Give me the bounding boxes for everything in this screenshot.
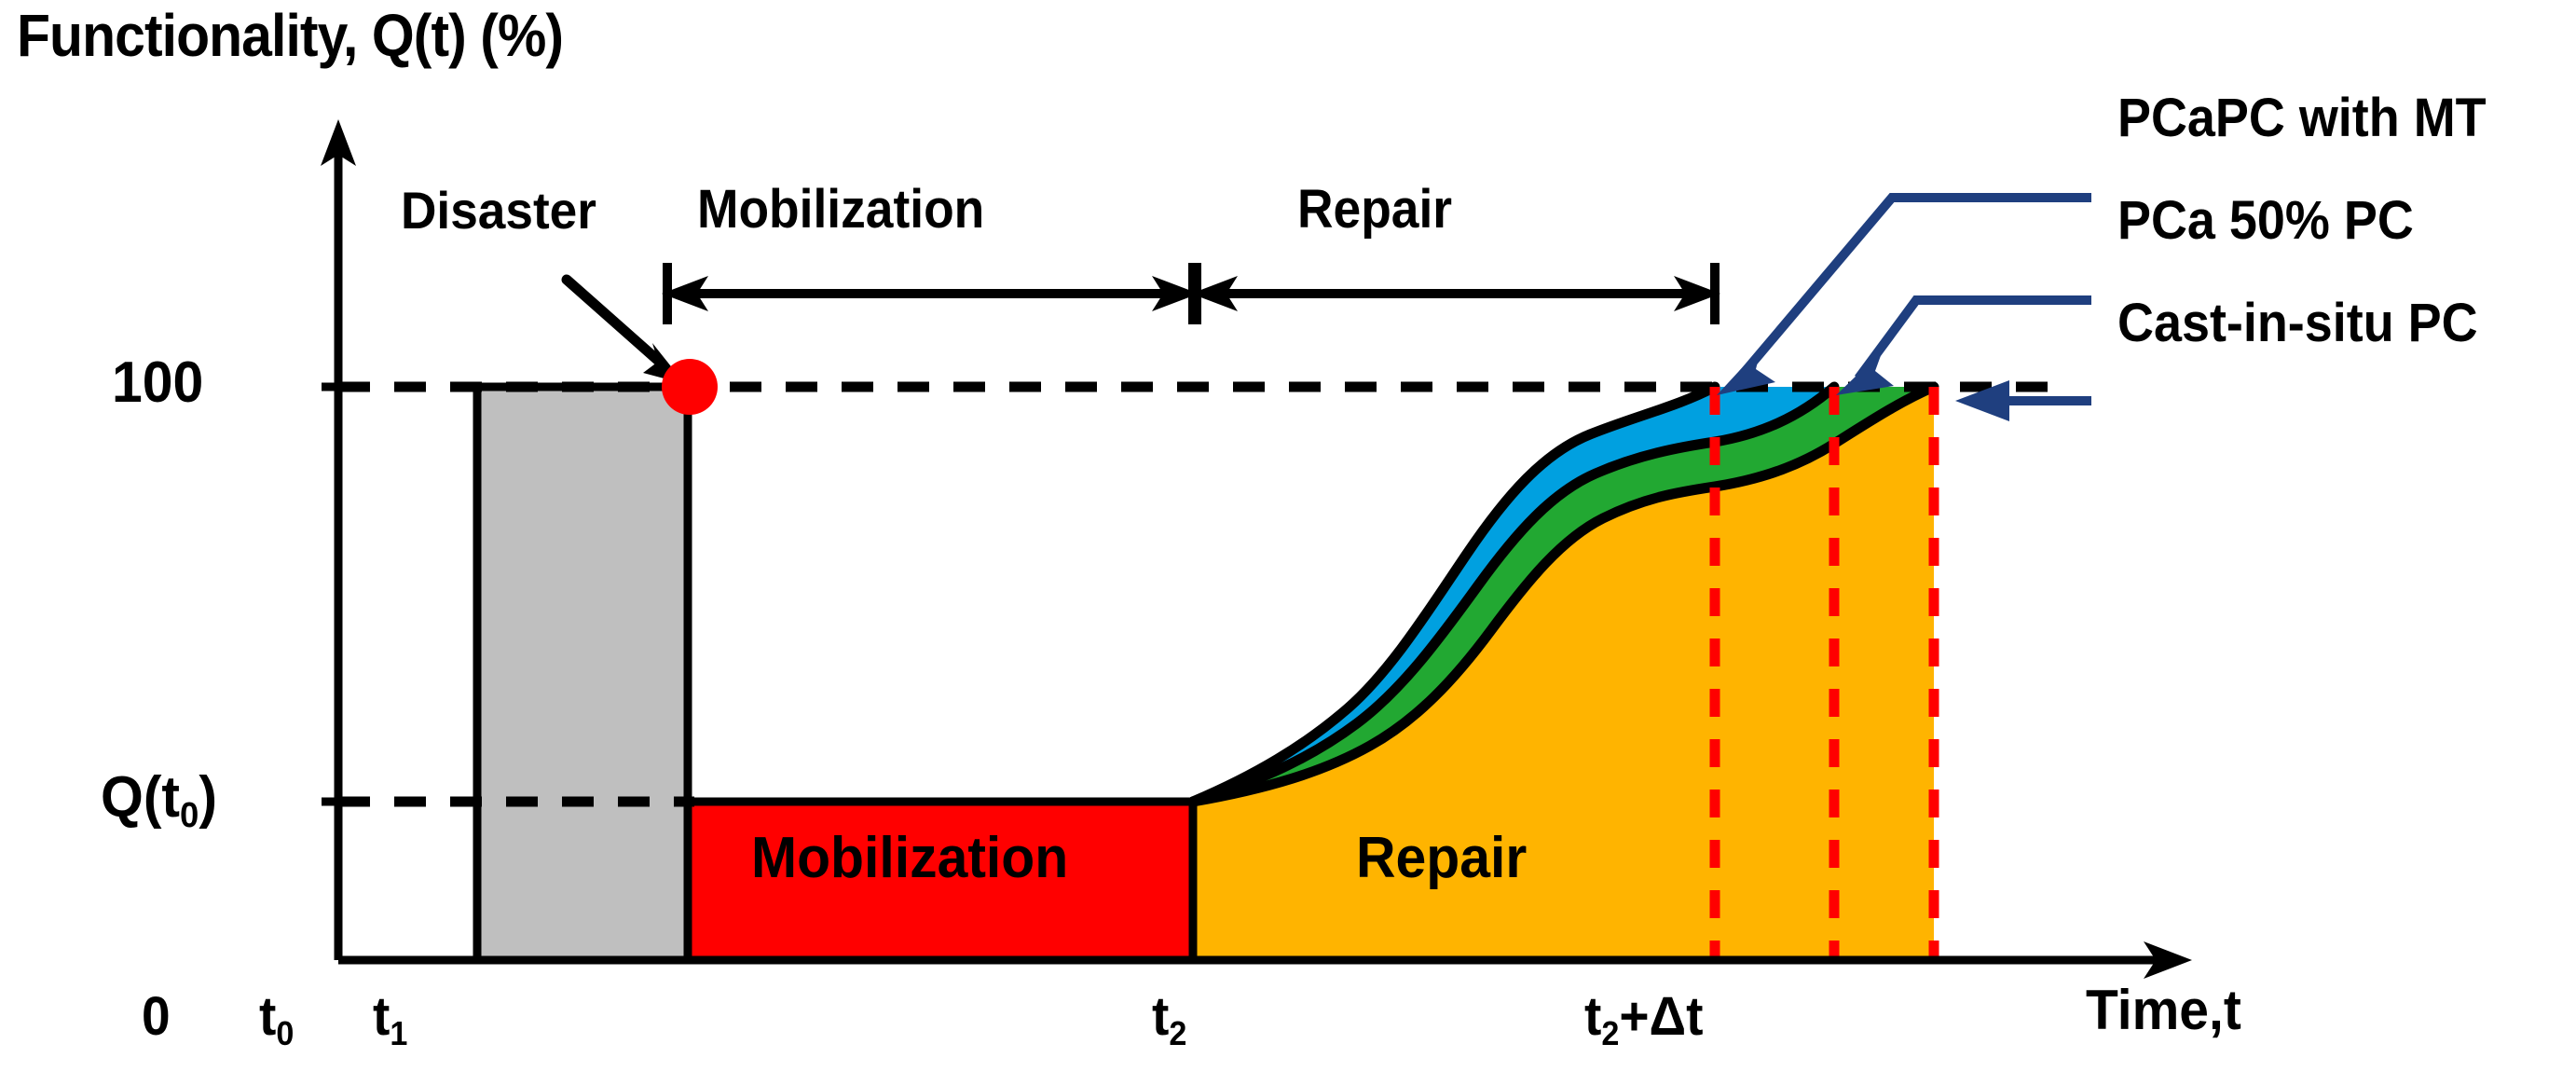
- chart-canvas: Functionality, Q(t) (%) 100 Q(t0) 0 t0 t…: [0, 0, 2576, 1085]
- x-tick-t1-subscript: 1: [390, 1014, 407, 1052]
- x-tick-t2-base: t: [1152, 986, 1169, 1047]
- x-tick-t0-subscript: 0: [276, 1014, 294, 1052]
- x-tick-t2-subscript: 2: [1169, 1014, 1186, 1052]
- y-tick-q0-subscript: 0: [180, 795, 199, 835]
- x-tick-t2dt-tail: +Δt: [1619, 986, 1703, 1047]
- x-axis-tick-0: 0: [142, 990, 171, 1044]
- x-axis-tick-t1: t1: [373, 990, 407, 1051]
- y-axis-tick-100: 100: [112, 354, 203, 412]
- x-tick-t2dt-base: t: [1584, 986, 1601, 1047]
- band-label-mobilization: Mobilization: [751, 830, 1068, 887]
- x-tick-t1-base: t: [373, 986, 390, 1047]
- band-label-repair: Repair: [1356, 830, 1527, 887]
- page-title: Functionality, Q(t) (%): [17, 6, 563, 65]
- annotation-mobilization-span: Mobilization: [697, 183, 984, 237]
- annotation-disaster: Disaster: [401, 185, 596, 237]
- chart-text-layer: Functionality, Q(t) (%) 100 Q(t0) 0 t0 t…: [0, 0, 2576, 1085]
- x-tick-t0-base: t: [259, 986, 276, 1047]
- legend-item-pca-50-pc[interactable]: PCa 50% PC: [2117, 194, 2414, 248]
- x-tick-t2dt-subscript: 2: [1601, 1014, 1619, 1052]
- y-axis-tick-q0: Q(t0): [101, 769, 217, 833]
- x-axis-tick-t0: t0: [259, 990, 294, 1051]
- y-tick-q0-close: ): [199, 765, 217, 830]
- y-tick-q0-base: Q(t: [101, 765, 180, 830]
- x-axis-tick-t2-plus-delta-t: t2+Δt: [1584, 990, 1703, 1051]
- x-axis-tick-t2: t2: [1152, 990, 1186, 1051]
- annotation-repair-span: Repair: [1297, 183, 1452, 237]
- legend-item-pcapc-with-mt[interactable]: PCaPC with MT: [2117, 91, 2487, 145]
- legend-item-cast-in-situ-pc[interactable]: Cast-in-situ PC: [2117, 296, 2478, 350]
- x-axis-label: Time,t: [2086, 982, 2241, 1038]
